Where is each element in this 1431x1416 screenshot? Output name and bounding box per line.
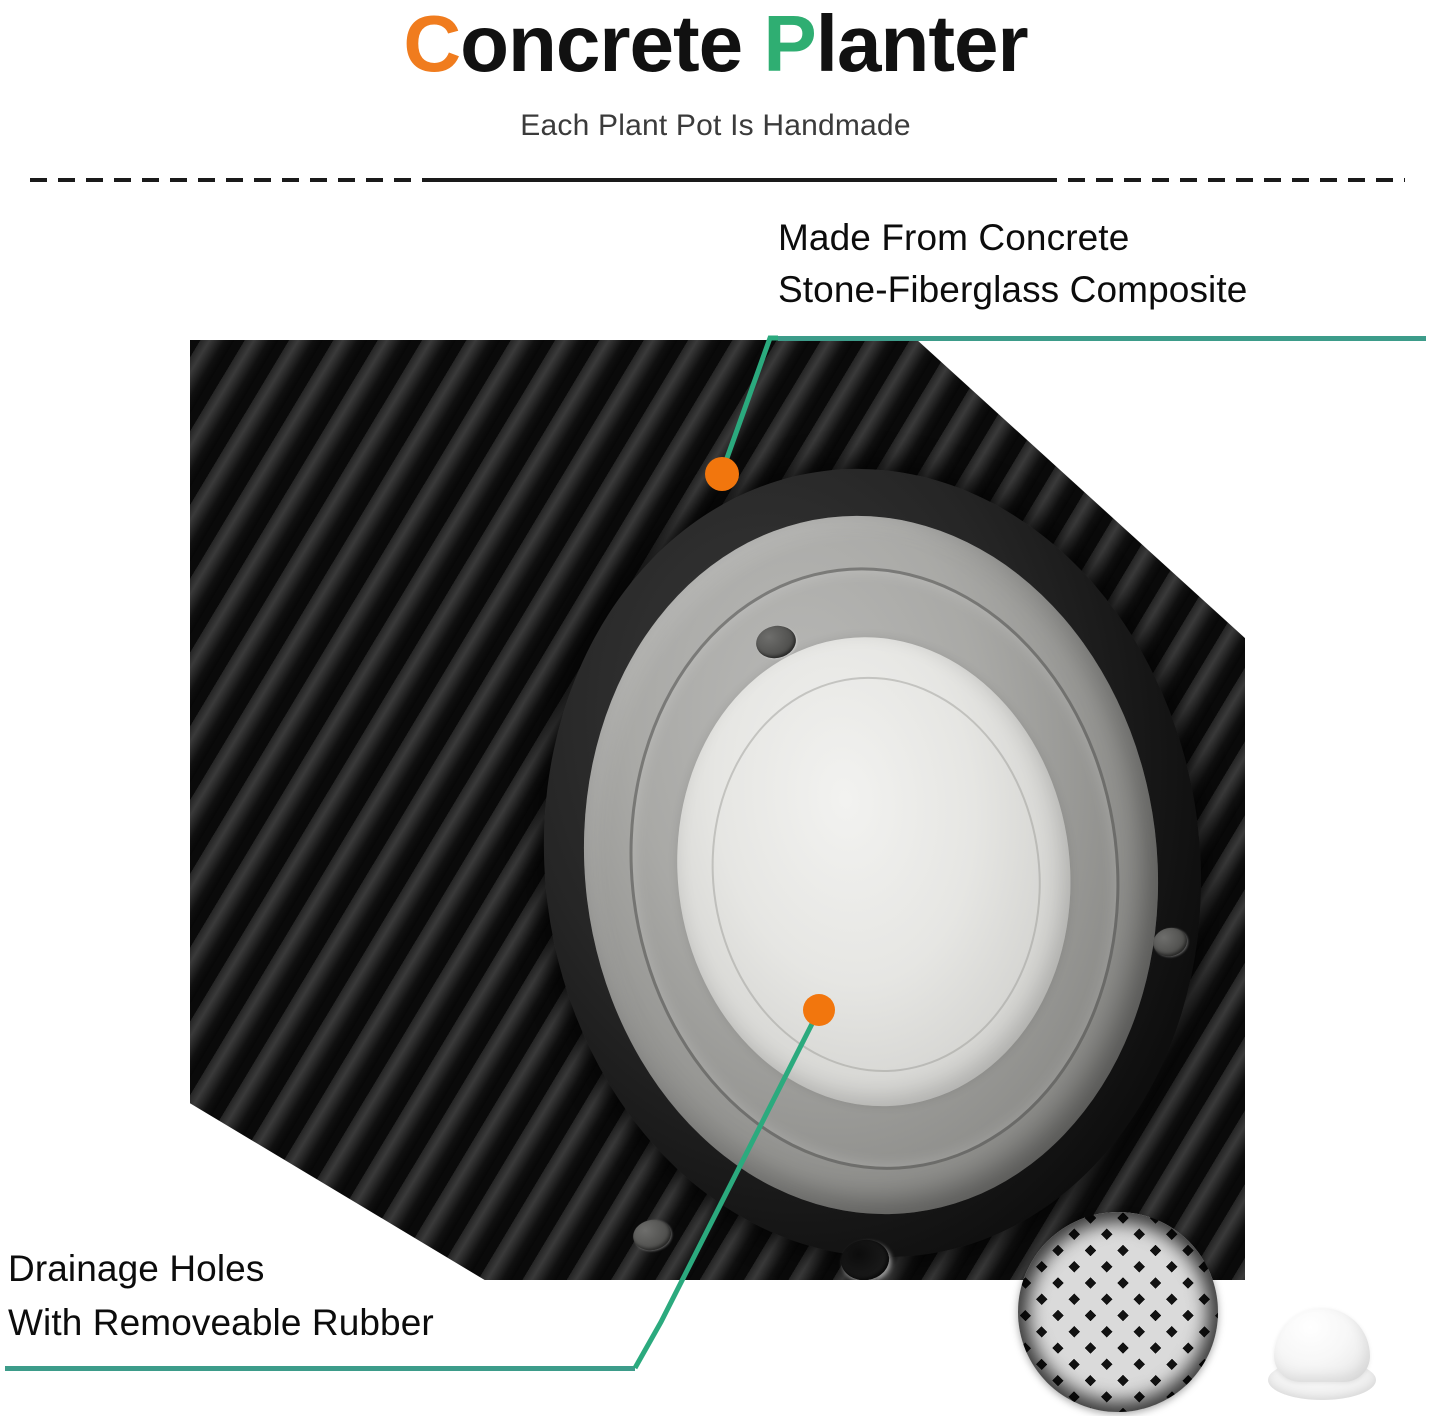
page-subtitle: Each Plant Pot Is Handmade (0, 108, 1431, 144)
title-letter-c: C (403, 0, 460, 88)
page-title: Concrete Planter (0, 2, 1431, 86)
rubber-plug-cap (1274, 1308, 1370, 1382)
title-text-oncrete: oncrete (460, 0, 763, 88)
concrete-base-inner-ring (689, 658, 1063, 1091)
callout-drainage-underline (5, 1366, 635, 1371)
callout-drainage: Drainage Holes With Removeable Rubber (8, 1242, 648, 1350)
divider-solid-center (430, 178, 1040, 182)
header: Concrete Planter Each Plant Pot Is Handm… (0, 0, 1431, 172)
mesh-edge-shading (1018, 1212, 1218, 1412)
title-text-lanter: lanter (816, 0, 1028, 88)
callout-material-line-1: Made From Concrete (778, 212, 1431, 264)
divider-dashed-left (30, 178, 430, 182)
title-letter-p: P (763, 0, 815, 88)
divider-dashed-right (1040, 178, 1405, 182)
rubber-plug-icon (1268, 1308, 1376, 1400)
callout-drainage-line-2: With Removeable Rubber (8, 1296, 648, 1350)
product-photo (190, 340, 1245, 1280)
header-divider (0, 178, 1431, 184)
callout-material: Made From Concrete Stone-Fiberglass Comp… (778, 212, 1431, 316)
callout-material-line-2: Stone-Fiberglass Composite (778, 264, 1431, 316)
mesh-drainage-screen-icon (1018, 1212, 1218, 1412)
callout-material-underline (778, 336, 1426, 341)
callout-drainage-line-1: Drainage Holes (8, 1242, 648, 1296)
